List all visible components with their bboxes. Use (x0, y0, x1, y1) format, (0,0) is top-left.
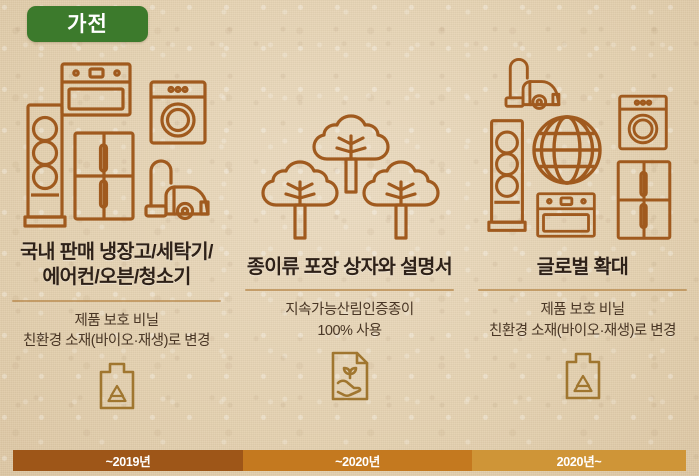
column2-divider (245, 289, 454, 291)
air-purifier-tower-icon (22, 102, 68, 230)
column2-illustration (233, 52, 466, 240)
column1-subtext-line2: 친환경 소재(바이오·재생)로 변경 (10, 331, 223, 352)
oven-icon (536, 192, 596, 238)
column1-subtext-line1: 제품 보호 비닐 (10, 311, 223, 332)
column1-illustration (0, 52, 233, 240)
column-domestic-sales: 국내 판매 냉장고/세탁기/ 에어컨/오븐/청소기 제품 보호 비닐 친환경 소… (0, 52, 233, 444)
category-badge: 가전 (27, 6, 148, 42)
fsc-certificate-sprout-icon (329, 350, 371, 402)
washing-machine-icon (149, 80, 207, 145)
column2-text-block: 종이류 포장 상자와 설명서 지속가능산림인증종이 100% 사용 (243, 255, 456, 402)
vacuum-cleaner-icon (144, 157, 216, 225)
column2-mini-icon-wrap (243, 350, 456, 402)
column2-heading-line1: 종이류 포장 상자와 설명서 (243, 255, 456, 280)
category-badge-label: 가전 (67, 14, 108, 35)
tree-icon (357, 156, 445, 244)
timeline-segment-2-label: ~2020년 (335, 451, 380, 470)
column2-subtext-line2: 100% 사용 (243, 321, 456, 342)
tree-icon (256, 156, 344, 244)
column1-mini-icon-wrap (10, 360, 223, 412)
column3-heading: 글로벌 확대 (476, 255, 689, 280)
column1-divider (12, 300, 221, 302)
column-global-expansion: 글로벌 확대 제품 보호 비닐 친환경 소재(바이오·재생)로 변경 (466, 52, 699, 444)
column-paper-packaging: 종이류 포장 상자와 설명서 지속가능산림인증종이 100% 사용 (233, 52, 466, 444)
column1-text-block: 국내 판매 냉장고/세탁기/ 에어컨/오븐/청소기 제품 보호 비닐 친환경 소… (10, 240, 223, 412)
timeline-segment-3: 2020년~ (472, 450, 686, 471)
refrigerator-icon (616, 160, 672, 240)
column3-text-block: 글로벌 확대 제품 보호 비닐 친환경 소재(바이오·재생)로 변경 (476, 255, 689, 402)
timeline-segment-2: ~2020년 (243, 450, 472, 471)
column1-subtext: 제품 보호 비닐 친환경 소재(바이오·재생)로 변경 (10, 311, 223, 352)
vacuum-cleaner-icon (504, 56, 566, 114)
column1-heading-line2: 에어컨/오븐/청소기 (10, 265, 223, 290)
timeline-segment-1: ~2019년 (13, 450, 243, 471)
timeline-segment-3-label: 2020년~ (557, 451, 602, 470)
column3-subtext-line2: 친환경 소재(바이오·재생)로 변경 (476, 321, 689, 342)
timeline-segment-1-label: ~2019년 (106, 451, 151, 470)
column3-mini-icon-wrap (476, 350, 689, 402)
air-purifier-tower-icon (486, 118, 528, 234)
column3-subtext-line1: 제품 보호 비닐 (476, 300, 689, 321)
column3-heading-line1: 글로벌 확대 (476, 255, 689, 280)
column2-subtext-line1: 지속가능산림인증종이 (243, 300, 456, 321)
infographic-frame: 가전 (0, 0, 699, 476)
plastic-bag-recycle-icon (563, 350, 603, 402)
refrigerator-icon (73, 131, 135, 221)
column2-heading: 종이류 포장 상자와 설명서 (243, 255, 456, 280)
column3-illustration (466, 52, 699, 240)
column2-subtext: 지속가능산림인증종이 100% 사용 (243, 300, 456, 341)
oven-icon (60, 62, 132, 117)
column1-heading-line1: 국내 판매 냉장고/세탁기/ (10, 240, 223, 265)
column1-heading: 국내 판매 냉장고/세탁기/ 에어컨/오븐/청소기 (10, 240, 223, 291)
washing-machine-icon (618, 94, 668, 151)
plastic-bag-recycle-icon (97, 360, 137, 412)
column3-divider (478, 289, 687, 291)
column3-subtext: 제품 보호 비닐 친환경 소재(바이오·재생)로 변경 (476, 300, 689, 341)
timeline-bar: ~2019년 ~2020년 2020년~ (13, 450, 686, 471)
globe-icon (531, 114, 603, 186)
